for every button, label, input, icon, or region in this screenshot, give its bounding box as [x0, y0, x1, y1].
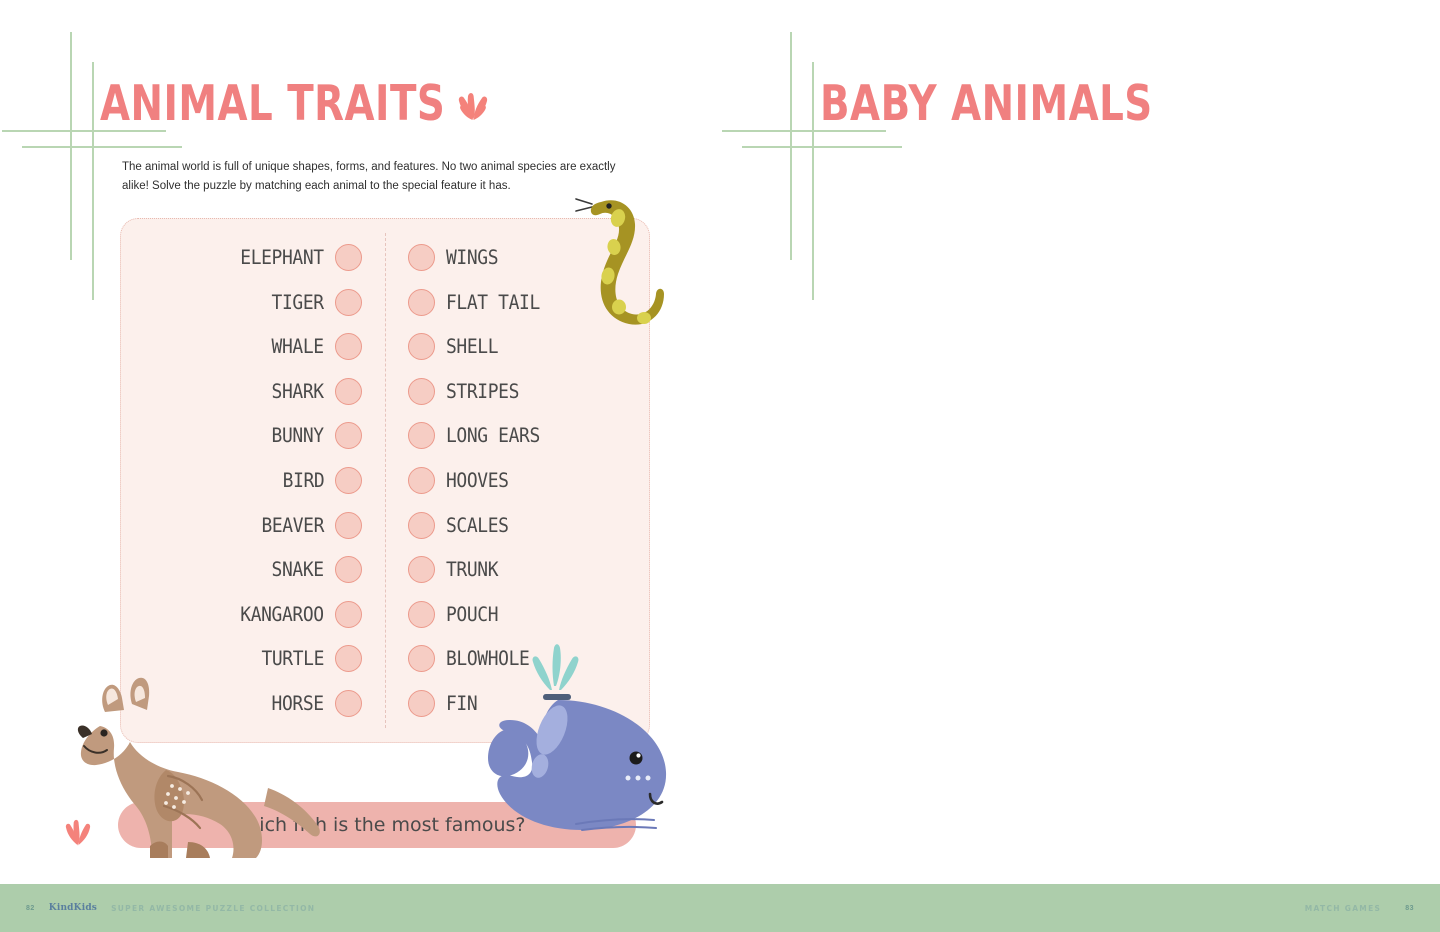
corner-rule-vertical-2 [92, 62, 94, 300]
animals-column: ELEPHANT TIGER WHALE SHARK BUNNY BIRD BE… [121, 219, 386, 742]
list-item-label: HOOVES [446, 469, 509, 492]
right-page-number: 83 [1405, 905, 1414, 912]
list-item-label: WINGS [446, 246, 498, 269]
list-item[interactable]: LONG EARS [408, 414, 548, 459]
leaf-sprig-icon [452, 84, 494, 126]
list-item-label: BIRD [282, 469, 324, 492]
list-item[interactable]: ELEPHANT [233, 235, 362, 280]
left-page: ANIMAL TRAITS The animal world is full o… [0, 0, 720, 932]
match-dot[interactable] [408, 422, 435, 449]
list-item[interactable]: STRIPES [408, 369, 525, 414]
list-item[interactable]: BEAVER [256, 503, 362, 548]
list-item-label: BUNNY [272, 424, 324, 447]
corner-rule-vertical-2 [812, 62, 814, 300]
corner-rule-vertical-1 [790, 32, 792, 260]
match-dot[interactable] [335, 467, 362, 494]
list-item[interactable]: WINGS [408, 235, 503, 280]
match-dot[interactable] [335, 378, 362, 405]
list-item[interactable]: SHELL [408, 324, 503, 369]
list-item[interactable]: BIRD [279, 458, 362, 503]
match-dot[interactable] [335, 289, 362, 316]
list-item-label: TIGER [272, 291, 324, 314]
list-item[interactable]: TRUNK [408, 547, 503, 592]
match-dot[interactable] [408, 244, 435, 271]
list-item[interactable]: BUNNY [267, 414, 362, 459]
list-item[interactable]: HORSE [267, 681, 362, 726]
list-item[interactable]: SNAKE [267, 547, 362, 592]
match-dot[interactable] [335, 244, 362, 271]
list-item-label: STRIPES [446, 380, 519, 403]
list-item[interactable]: TURTLE [256, 637, 362, 682]
list-item-label: SHARK [272, 380, 324, 403]
list-item-label: POUCH [446, 603, 498, 626]
footer-brand: KindKids [49, 903, 97, 913]
list-item[interactable]: TIGER [267, 280, 362, 325]
corner-rule-horizontal-2 [742, 146, 902, 148]
intro-paragraph: The animal world is full of unique shape… [122, 158, 642, 196]
list-item[interactable]: FLAT TAIL [408, 280, 548, 325]
list-item[interactable]: SHARK [267, 369, 362, 414]
page-title: ANIMAL TRAITS [100, 76, 445, 132]
leaf-sprig-icon [60, 812, 96, 850]
match-dot[interactable] [335, 333, 362, 360]
match-dot[interactable] [408, 645, 435, 672]
match-dot[interactable] [335, 512, 362, 539]
list-item[interactable]: FIN [408, 681, 480, 726]
match-dot[interactable] [408, 467, 435, 494]
book-spread: ANIMAL TRAITS The animal world is full o… [0, 0, 1440, 932]
list-item[interactable]: WHALE [267, 324, 362, 369]
list-item-label: WHALE [272, 335, 324, 358]
match-dot[interactable] [408, 512, 435, 539]
list-item-label: BEAVER [261, 514, 324, 537]
match-dot[interactable] [408, 289, 435, 316]
list-item[interactable]: BLOWHOLE [408, 637, 537, 682]
list-item-label: HORSE [272, 692, 324, 715]
list-item-label: FIN [446, 692, 477, 715]
match-dot[interactable] [335, 601, 362, 628]
list-item[interactable]: SCALES [408, 503, 514, 548]
list-item[interactable]: POUCH [408, 592, 503, 637]
list-item-label: ELEPHANT [241, 246, 324, 269]
footer-collection-title: SUPER AWESOME PUZZLE COLLECTION [111, 904, 315, 913]
animal-traits-puzzle-panel: ELEPHANT TIGER WHALE SHARK BUNNY BIRD BE… [120, 218, 650, 743]
match-dot[interactable] [335, 422, 362, 449]
list-item[interactable]: KANGAROO [233, 592, 362, 637]
match-dot[interactable] [335, 645, 362, 672]
list-item[interactable]: HOOVES [408, 458, 514, 503]
page-title: BABY ANIMALS [820, 76, 1153, 132]
page-footer: 82 KindKids SUPER AWESOME PUZZLE COLLECT… [0, 884, 1440, 932]
riddle-banner: Which fish is the most famous? [118, 802, 636, 848]
match-dot[interactable] [408, 601, 435, 628]
match-dot[interactable] [408, 556, 435, 583]
right-page: BABY ANIMALS How cute! What is a baby ve… [720, 0, 1440, 932]
list-item-label: SNAKE [272, 558, 324, 581]
list-item-label: SCALES [446, 514, 509, 537]
match-dot[interactable] [335, 690, 362, 717]
traits-column: WINGS FLAT TAIL SHELL STRIPES LONG EARS … [386, 219, 649, 742]
corner-rule-horizontal-2 [22, 146, 182, 148]
match-dot[interactable] [408, 690, 435, 717]
list-item-label: KANGAROO [241, 603, 324, 626]
list-item-label: FLAT TAIL [446, 291, 540, 314]
corner-rule-vertical-1 [70, 32, 72, 260]
list-item-label: LONG EARS [446, 424, 540, 447]
list-item-label: SHELL [446, 335, 498, 358]
match-dot[interactable] [335, 556, 362, 583]
match-dot[interactable] [408, 378, 435, 405]
list-item-label: BLOWHOLE [446, 647, 529, 670]
list-item-label: TRUNK [446, 558, 498, 581]
list-item-label: TURTLE [261, 647, 324, 670]
footer-section-title: MATCH GAMES [1305, 904, 1381, 913]
left-page-number: 82 [26, 905, 35, 912]
match-dot[interactable] [408, 333, 435, 360]
